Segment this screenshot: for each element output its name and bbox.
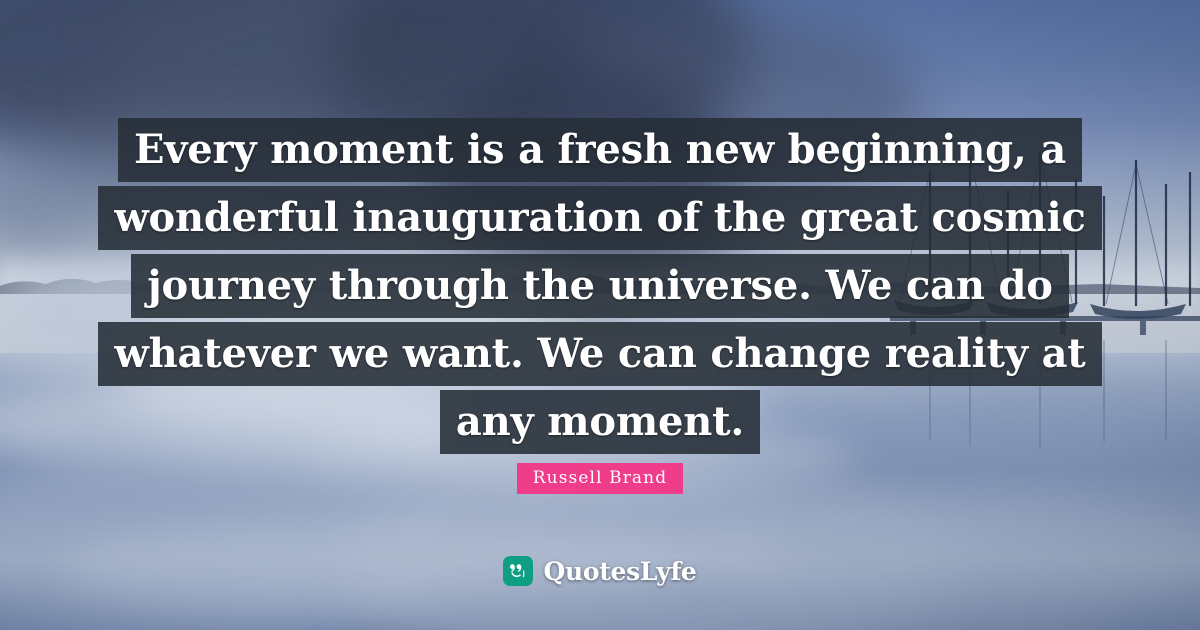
quote-line: journey through the universe. We can do — [131, 254, 1068, 318]
quote-marks-icon — [503, 556, 533, 586]
quote-line: wonderful inauguration of the great cosm… — [98, 186, 1101, 250]
quote-text: Every moment is a fresh new beginning, a… — [0, 118, 1200, 454]
quote-line: Every moment is a fresh new beginning, a — [118, 118, 1082, 182]
brand-name: QuotesLyfe — [543, 557, 696, 586]
brand-logo[interactable]: QuotesLyfe — [0, 556, 1200, 586]
author-badge: Russell Brand — [0, 463, 1200, 494]
quote-line: whatever we want. We can change reality … — [98, 322, 1101, 386]
quote-line: any moment. — [440, 390, 760, 454]
author-name: Russell Brand — [517, 463, 683, 494]
quote-card-content: Every moment is a fresh new beginning, a… — [0, 0, 1200, 630]
